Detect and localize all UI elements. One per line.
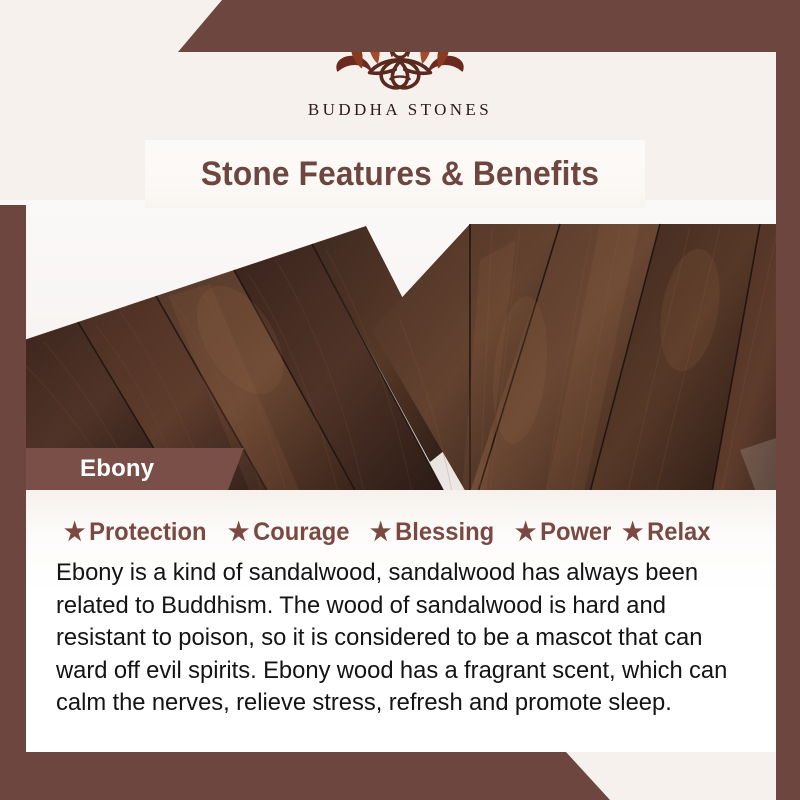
benefit-item-blessing: ★Blessing xyxy=(370,518,494,547)
benefit-item-relax: ★Relax xyxy=(622,518,710,547)
lotus-meditation-icon xyxy=(320,14,480,96)
stone-name-label: Ebony xyxy=(80,455,154,483)
benefit-label: Relax xyxy=(647,518,710,547)
star-icon: ★ xyxy=(622,520,643,545)
star-icon: ★ xyxy=(370,520,391,545)
benefit-label: Courage xyxy=(253,518,349,547)
benefit-item-power: ★Power xyxy=(515,518,611,547)
page-title: Stone Features & Benefits xyxy=(28,140,772,208)
benefit-label: Power xyxy=(540,518,611,547)
brand-header: BUDDHA STONES xyxy=(0,0,800,146)
star-icon: ★ xyxy=(228,520,249,545)
description-panel: ★Protection★Courage★Blessing★Power★Relax… xyxy=(26,490,776,752)
title-band: Stone Features & Benefits xyxy=(0,140,800,208)
benefit-item-protection: ★Protection xyxy=(64,518,207,547)
benefits-list: ★Protection★Courage★Blessing★Power★Relax xyxy=(64,518,760,547)
benefit-label: Protection xyxy=(89,518,206,547)
benefit-label: Blessing xyxy=(395,518,494,547)
benefit-item-courage: ★Courage xyxy=(228,518,349,547)
frame-bottom-bar xyxy=(0,752,800,800)
description-text: Ebony is a kind of sandalwood, sandalwoo… xyxy=(56,557,751,720)
brand-name: BUDDHA STONES xyxy=(308,100,492,120)
star-icon: ★ xyxy=(515,520,536,545)
star-icon: ★ xyxy=(64,520,85,545)
stone-name-banner: Ebony xyxy=(0,448,244,490)
